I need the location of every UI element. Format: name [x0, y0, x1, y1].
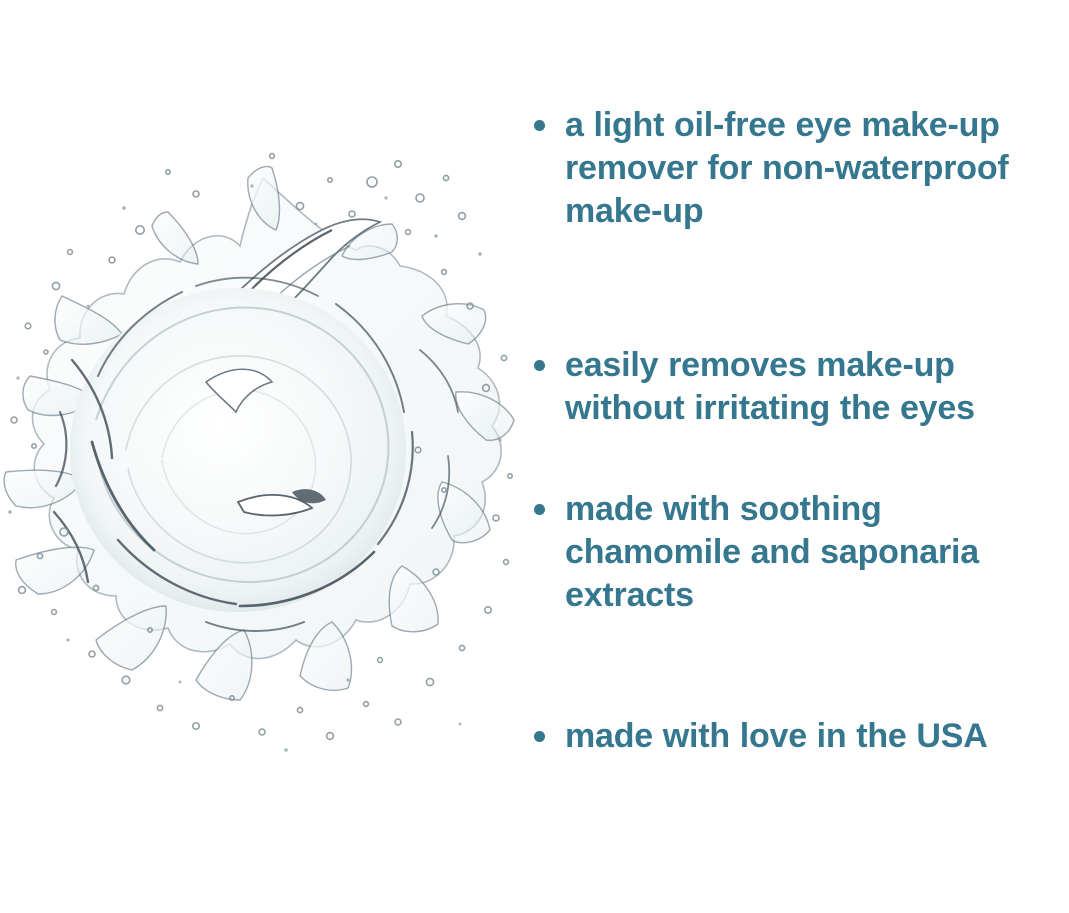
benefit-item-3: made with soothing chamomile and saponar… — [530, 488, 1055, 617]
bullet-point-icon — [534, 120, 545, 131]
benefit-text-4: made with love in the USA — [565, 715, 1055, 758]
bullet-point-icon — [534, 360, 545, 371]
water-splash-image — [0, 120, 520, 760]
bullet-point-icon — [534, 504, 545, 515]
water-splash-icon — [0, 120, 520, 760]
benefit-text-1: a light oil-free eye make-up remover for… — [565, 104, 1055, 233]
benefit-item-1: a light oil-free eye make-up remover for… — [530, 104, 1055, 233]
benefit-text-3: made with soothing chamomile and saponar… — [565, 488, 1055, 617]
product-benefits-page: a light oil-free eye make-up remover for… — [0, 0, 1069, 913]
benefits-list: a light oil-free eye make-up remover for… — [530, 104, 1055, 758]
benefit-item-2: easily removes make-up without irritatin… — [530, 344, 1055, 430]
benefit-item-4: made with love in the USA — [530, 715, 1055, 758]
benefit-text-2: easily removes make-up without irritatin… — [565, 344, 1055, 430]
bullet-point-icon — [534, 731, 545, 742]
splash-vortex-core — [70, 288, 406, 612]
